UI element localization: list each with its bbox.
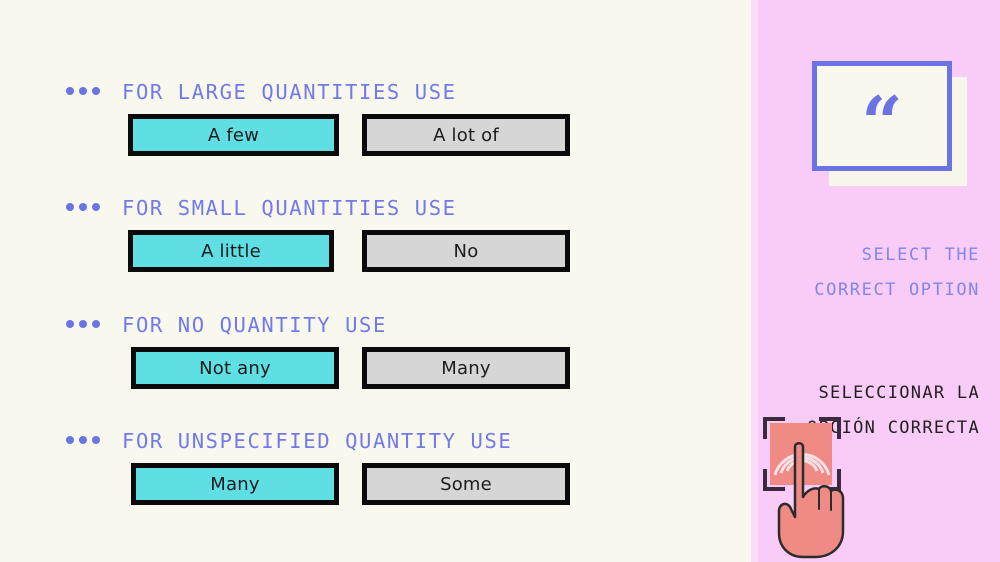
three-dots-icon xyxy=(66,436,100,444)
quote-card: “ xyxy=(812,61,967,186)
quote-card-frame: “ xyxy=(812,61,952,171)
option-group: A little No xyxy=(0,230,751,282)
question-row: FOR LARGE QUANTITIES USE A few A lot of xyxy=(0,78,751,166)
question-row: FOR NO QUANTITY USE Not any Many xyxy=(0,311,751,399)
three-dots-icon xyxy=(66,203,100,211)
option-group: Many Some xyxy=(0,463,751,515)
tap-gesture-icon xyxy=(757,413,867,562)
option-button-correct[interactable]: A little xyxy=(128,230,334,272)
option-button-correct[interactable]: Not any xyxy=(131,347,339,389)
prompt-english: SELECT THE CORRECT OPTION xyxy=(780,238,980,308)
three-dots-icon xyxy=(66,320,100,328)
question-heading-label: FOR LARGE QUANTITIES USE xyxy=(122,78,457,106)
option-button-correct[interactable]: A few xyxy=(128,114,339,156)
question-heading: FOR UNSPECIFIED QUANTITY USE xyxy=(0,427,751,457)
slide-canvas: FOR LARGE QUANTITIES USE A few A lot of … xyxy=(0,0,1000,562)
option-group: A few A lot of xyxy=(0,114,751,166)
question-heading-label: FOR SMALL QUANTITIES USE xyxy=(122,194,457,222)
question-row: FOR SMALL QUANTITIES USE A little No xyxy=(0,194,751,282)
question-heading-label: FOR UNSPECIFIED QUANTITY USE xyxy=(122,427,512,455)
option-button-correct[interactable]: Many xyxy=(131,463,339,505)
three-dots-icon xyxy=(66,87,100,95)
option-button-alternate[interactable]: No xyxy=(362,230,570,272)
option-button-alternate[interactable]: Many xyxy=(362,347,570,389)
question-heading: FOR SMALL QUANTITIES USE xyxy=(0,194,751,224)
question-heading-label: FOR NO QUANTITY USE xyxy=(122,311,387,339)
question-heading: FOR LARGE QUANTITIES USE xyxy=(0,78,751,108)
option-button-alternate[interactable]: Some xyxy=(362,463,570,505)
question-heading: FOR NO QUANTITY USE xyxy=(0,311,751,341)
option-group: Not any Many xyxy=(0,347,751,399)
instruction-panel: “ SELECT THE CORRECT OPTION SELECCIONAR … xyxy=(751,0,1000,562)
option-button-alternate[interactable]: A lot of xyxy=(362,114,570,156)
questions-panel: FOR LARGE QUANTITIES USE A few A lot of … xyxy=(0,0,751,562)
question-row: FOR UNSPECIFIED QUANTITY USE Many Some xyxy=(0,427,751,515)
